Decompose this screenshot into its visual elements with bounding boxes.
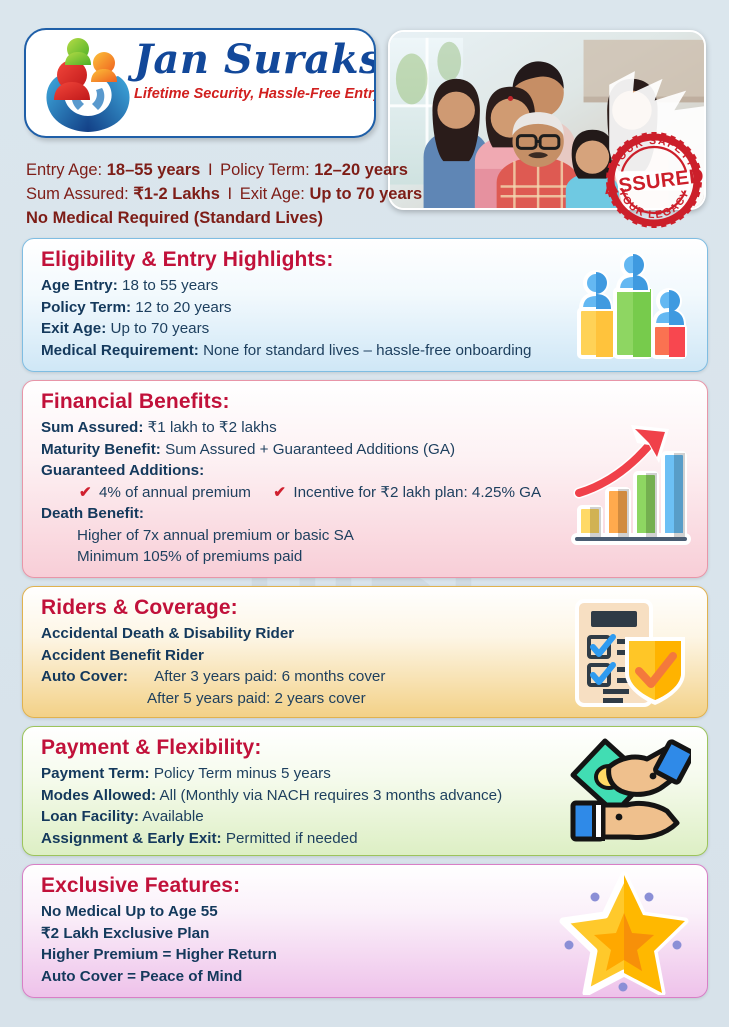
row-label: Maturity Benefit: — [41, 441, 161, 458]
auto-cover-item-2: After 5 years paid: 2 years cover — [147, 690, 366, 707]
brand-tagline: Lifetime Security, Hassle-Free Entry — [134, 86, 374, 102]
brand-name: Jan Suraksha — [134, 40, 374, 80]
row-value: None for standard lives – hassle-free on… — [203, 342, 531, 359]
card-financial-title: Financial Benefits: — [41, 390, 707, 414]
check-icon: ✔ — [273, 484, 289, 501]
exit-age-value: Up to 70 years — [309, 185, 422, 203]
card-exclusive-features: Exclusive Features: No Medical Up to Age… — [22, 864, 708, 998]
row-label: Payment Term: — [41, 765, 150, 782]
fact-separator-2: I — [225, 185, 236, 203]
star-icon — [559, 871, 689, 995]
brand-wordmark: Jan Suraksha Lifetime Security, Hassle-F… — [134, 40, 374, 102]
entry-age-value: 18–55 years — [107, 161, 201, 179]
row-label: Death Benefit: — [41, 505, 144, 522]
header-facts: Entry Age: 18–55 years I Policy Term: 12… — [26, 158, 398, 230]
exit-age-label: Exit Age: — [240, 185, 305, 203]
hands-money-exchange-icon — [561, 735, 691, 849]
row-label: Guaranteed Additions: — [41, 462, 204, 479]
auto-cover-item-1: After 3 years paid: 6 months cover — [132, 666, 385, 688]
row-label: Age Entry: — [41, 277, 118, 294]
row-value: Available — [142, 808, 203, 825]
header: Jan Suraksha Lifetime Security, Hassle-F… — [0, 0, 729, 232]
row-label: Loan Facility: — [41, 808, 139, 825]
no-medical-note: No Medical Required (Standard Lives) — [26, 206, 398, 230]
row-death-benefit-item-2: Minimum 105% of premiums paid — [41, 546, 707, 568]
entry-age-label: Entry Age: — [26, 161, 102, 179]
stamp-top-text: YOUR SAFETY — [610, 135, 698, 170]
fact-separator-1: I — [205, 161, 216, 179]
header-fact-line-2: Sum Assured: ₹1-2 Lakhs I Exit Age: Up t… — [26, 182, 398, 206]
row-value: Policy Term minus 5 years — [154, 765, 331, 782]
row-value: All (Monthly via NACH requires 3 months … — [159, 787, 502, 804]
row-value: 18 to 55 years — [122, 277, 218, 294]
row-value: ₹1 lakh to ₹2 lakhs — [148, 419, 277, 436]
row-label: Policy Term: — [41, 299, 131, 316]
auto-cover-label: Auto Cover: — [41, 668, 128, 685]
infographic-page: HIDI CORPORATION — [0, 0, 729, 1027]
row-value: Sum Assured + Guaranteed Additions (GA) — [165, 441, 455, 458]
card-riders-coverage: Riders & Coverage: Accidental Death & Di… — [22, 586, 708, 718]
card-financial-benefits: Financial Benefits: Sum Assured: ₹1 lakh… — [22, 380, 708, 578]
clipboard-shield-check-icon — [571, 597, 689, 709]
row-label: Exit Age: — [41, 320, 106, 337]
row-label: Modes Allowed: — [41, 787, 156, 804]
row-value: Up to 70 years — [111, 320, 210, 337]
row-value: 12 to 20 years — [135, 299, 231, 316]
card-eligibility: Eligibility & Entry Highlights: Age Entr… — [22, 238, 708, 372]
people-bar-chart-icon — [571, 253, 693, 363]
card-payment-flexibility: Payment & Flexibility: Payment Term: Pol… — [22, 726, 708, 856]
svg-text:YOUR SAFETY: YOUR SAFETY — [610, 135, 698, 170]
hands-with-people-logo-icon — [34, 32, 142, 136]
brand-logo-box: Jan Suraksha Lifetime Security, Hassle-F… — [24, 28, 376, 138]
sum-assured-label: Sum Assured: — [26, 185, 129, 203]
policy-term-value: 12–20 years — [314, 161, 408, 179]
check-icon: ✔ — [79, 484, 95, 501]
check-item-1: 4% of annual premium — [99, 484, 251, 501]
row-label: Sum Assured: — [41, 419, 143, 436]
header-fact-line-1: Entry Age: 18–55 years I Policy Term: 12… — [26, 158, 398, 182]
policy-term-label: Policy Term: — [220, 161, 310, 179]
assured-stamp-badge: YOUR SAFETY YOUR LEGACY ASSURED — [598, 130, 710, 230]
check-item-2: Incentive for ₹2 lakh plan: 4.25% GA — [293, 484, 541, 501]
sum-assured-value: ₹1-2 Lakhs — [133, 185, 220, 203]
row-value: Permitted if needed — [226, 830, 358, 847]
growth-bar-chart-arrow-icon — [567, 419, 693, 549]
row-label: Medical Requirement: — [41, 342, 199, 359]
row-label: Assignment & Early Exit: — [41, 830, 222, 847]
